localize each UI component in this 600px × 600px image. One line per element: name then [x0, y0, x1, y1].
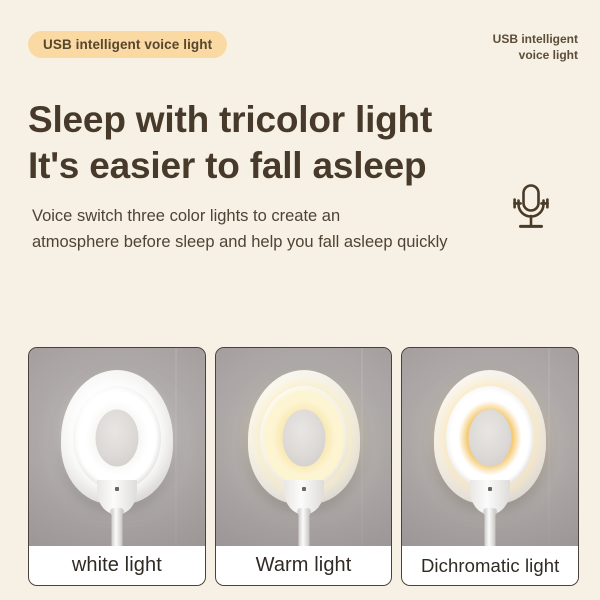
subtitle-line-1: Voice switch three color lights to creat… [32, 203, 522, 230]
lamp-stem [111, 508, 122, 546]
lamp-stem [298, 508, 309, 546]
light-card-caption: Warm light [216, 546, 392, 585]
corner-caption: USB intelligent voice light [493, 31, 578, 63]
ring-light-lamp [242, 362, 366, 546]
subtitle: Voice switch three color lights to creat… [32, 203, 522, 256]
lamp-ring [73, 386, 161, 490]
subtitle-line-2: atmosphere before sleep and help you fal… [32, 229, 522, 256]
product-photo [29, 348, 205, 546]
light-card-dichromatic[interactable]: Dichromatic light [401, 347, 579, 586]
light-mode-cards: white light Warm light [28, 347, 579, 586]
light-card-warm[interactable]: Warm light [215, 347, 393, 586]
lamp-ring-inner [469, 410, 512, 467]
light-card-white[interactable]: white light [28, 347, 206, 586]
product-badge: USB intelligent voice light [28, 31, 227, 58]
lamp-stem [485, 508, 496, 546]
lamp-sensor-dot [302, 487, 306, 491]
lamp-sensor-dot [115, 487, 119, 491]
headline-line-2: It's easier to fall asleep [28, 143, 432, 189]
product-banner: USB intelligent voice light USB intellig… [0, 0, 600, 600]
product-photo [216, 348, 392, 546]
headline: Sleep with tricolor light It's easier to… [28, 97, 432, 189]
lamp-ring [446, 386, 534, 490]
light-card-caption: white light [29, 546, 205, 585]
lamp-ring-inner [95, 410, 138, 467]
ring-light-lamp [428, 362, 552, 546]
lamp-sensor-dot [488, 487, 492, 491]
lamp-ring-inner [282, 410, 325, 467]
ring-light-lamp [55, 362, 179, 546]
corner-caption-line-1: USB intelligent [493, 32, 578, 46]
light-card-caption: Dichromatic light [402, 546, 578, 585]
headline-line-1: Sleep with tricolor light [28, 97, 432, 143]
product-photo [402, 348, 578, 546]
lamp-ring [260, 386, 348, 490]
corner-caption-line-2: voice light [519, 48, 578, 62]
microphone-icon [508, 181, 554, 235]
